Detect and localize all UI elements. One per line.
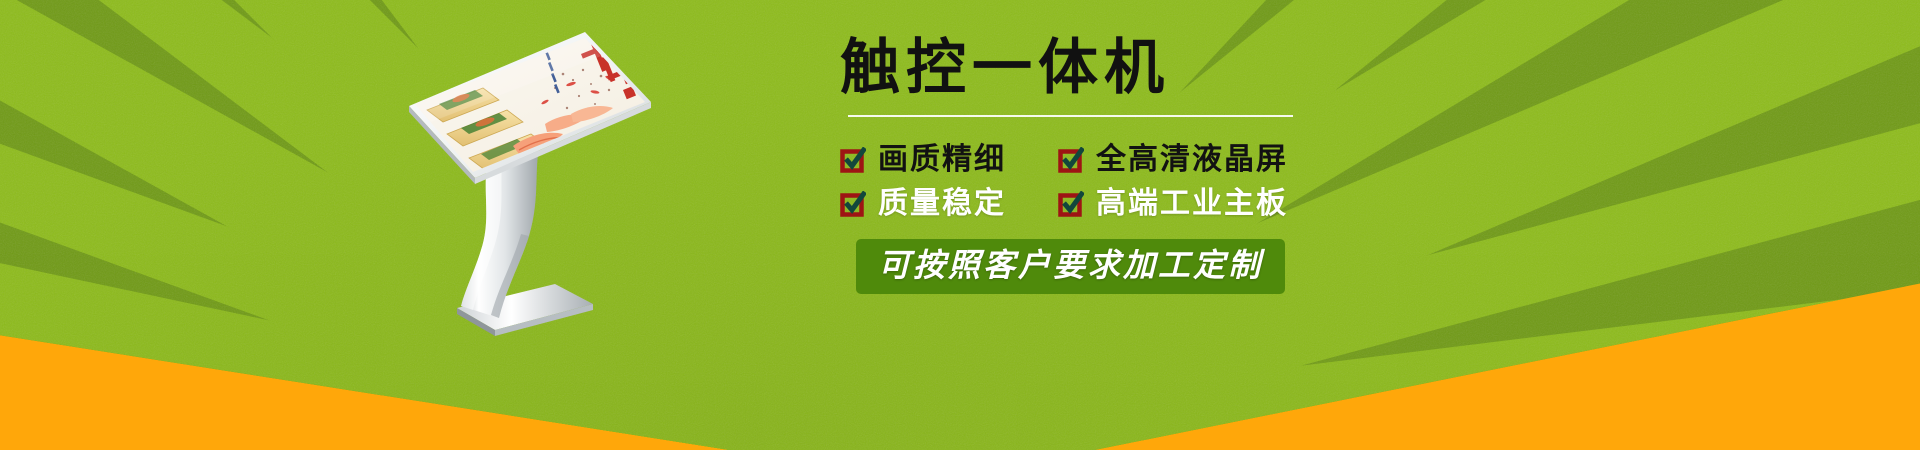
feature-item-0: 画质精细 [840, 145, 1058, 175]
feature-label: 质量稳定 [878, 189, 1006, 219]
checkbox-checked-icon [1058, 191, 1084, 217]
product-image-touch-kiosk [395, 18, 725, 338]
feature-list: 画质精细 全高清液晶屏 质量稳定 [840, 145, 1310, 219]
promo-banner: 触控一体机 画质精细 全高清液晶屏 [0, 0, 1920, 450]
checkbox-checked-icon [1058, 147, 1084, 173]
customization-banner: 可按照客户要求加工定制 [856, 239, 1285, 294]
checkbox-checked-icon [840, 191, 866, 217]
page-title: 触控一体机 [840, 36, 1840, 101]
feature-item-1: 全高清液晶屏 [1058, 145, 1310, 175]
feature-label: 全高清液晶屏 [1096, 145, 1288, 175]
banner-content: 触控一体机 画质精细 全高清液晶屏 [840, 36, 1840, 294]
customization-banner-text: 可按照客户要求加工定制 [878, 247, 1263, 283]
title-underline-rule [848, 115, 1293, 117]
checkbox-checked-icon [840, 147, 866, 173]
feature-label: 画质精细 [878, 145, 1006, 175]
feature-item-2: 质量稳定 [840, 189, 1058, 219]
feature-item-3: 高端工业主板 [1058, 189, 1310, 219]
feature-label: 高端工业主板 [1096, 189, 1288, 219]
